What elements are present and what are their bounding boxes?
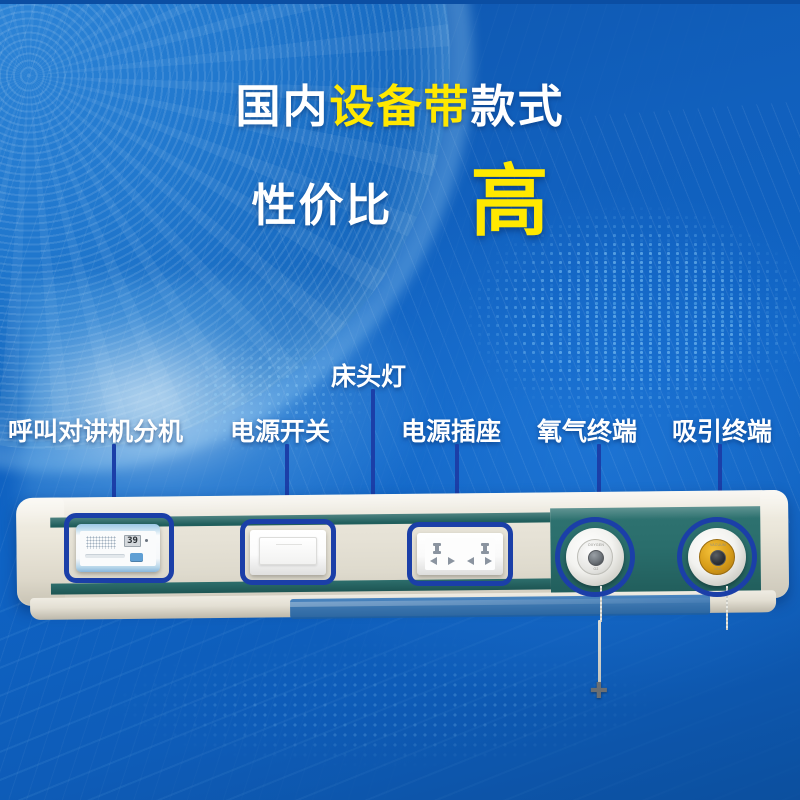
headline-emphasis: 高 [471, 166, 549, 238]
callout-label-oxygen: 氧气终端 [537, 412, 637, 448]
light-beams-lower [0, 600, 800, 800]
highlight-box-power-socket [407, 522, 513, 586]
callout-label-intercom: 呼叫对讲机分机 [8, 412, 183, 448]
callout-label-power-switch: 电源开关 [230, 412, 330, 448]
callout-label-power-socket: 电源插座 [401, 412, 501, 448]
highlight-box-power-switch [240, 519, 336, 585]
highlight-box-intercom [64, 513, 174, 583]
headline-subtext: 性价比 [251, 169, 392, 234]
headline-line-2: 性价比 高 [0, 166, 800, 238]
panel-right-cap [760, 490, 789, 598]
headline-block: 国内设备带款式 性价比 高 [0, 84, 800, 129]
top-edge-strip [0, 0, 800, 4]
callout-label-bed-lamp: 床头灯 [331, 357, 406, 393]
halftone-dots-left [130, 300, 400, 490]
headline-line-1: 国内设备带款式 [0, 84, 800, 129]
promo-banner: 国内设备带款式 性价比 高 呼叫对讲机分机 电源开关 床头灯 电源插座 氧气终端… [0, 0, 800, 800]
highlight-circle-suction [677, 517, 757, 597]
headline-part-1: 国内 [235, 81, 329, 132]
pull-cord[interactable] [598, 620, 601, 686]
callout-label-suction: 吸引终端 [672, 412, 772, 448]
pull-cord-weight-icon[interactable]: ✚ [588, 680, 610, 702]
panel-light-diffuser [290, 595, 710, 619]
headline-part-3: 款式 [471, 81, 565, 132]
headline-part-2: 设备带 [329, 81, 470, 132]
highlight-circle-oxygen [555, 517, 635, 597]
